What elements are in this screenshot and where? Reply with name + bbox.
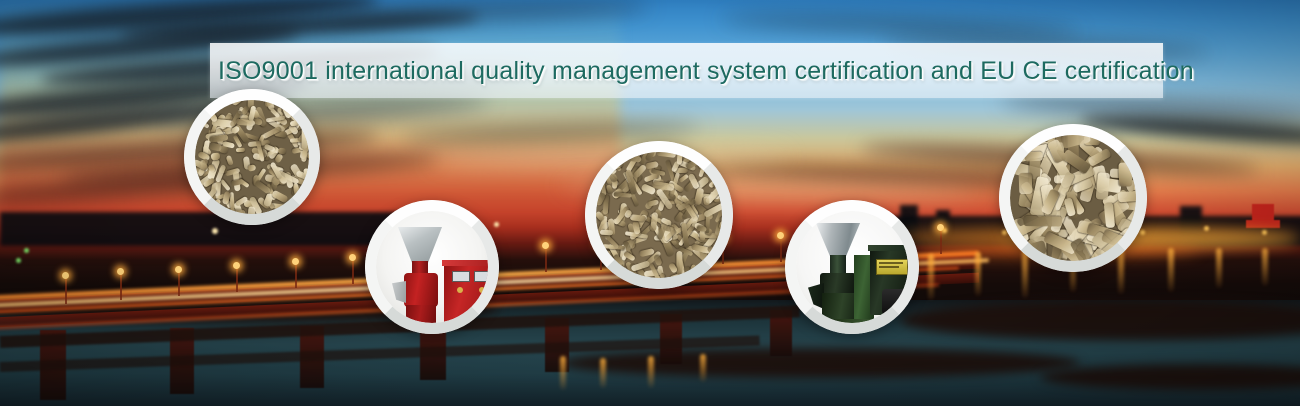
bridge-lamp xyxy=(62,272,69,279)
bridge-lamp xyxy=(349,254,356,261)
wood-pellet xyxy=(1133,135,1136,150)
circle-4-content xyxy=(796,211,908,323)
wood-pellet xyxy=(1024,216,1062,227)
wood-pellet xyxy=(703,196,710,206)
water-reflection xyxy=(1262,248,1268,286)
city-light xyxy=(24,248,29,253)
circle-5-content xyxy=(1010,135,1136,261)
wood-pellet xyxy=(195,104,205,114)
wood-pellet xyxy=(247,165,256,173)
wood-pellet xyxy=(269,210,289,214)
wood-pellets-texture xyxy=(195,100,309,214)
wood-pellet xyxy=(278,148,287,155)
water-reflection xyxy=(600,358,606,388)
wood-pellet xyxy=(220,179,231,191)
machine-motor xyxy=(882,289,908,315)
wood-pellet xyxy=(221,100,229,106)
wood-pellet xyxy=(1101,135,1124,143)
wood-pellet xyxy=(696,226,706,233)
bridge-lamp xyxy=(117,268,124,275)
circle-image-2[interactable] xyxy=(365,200,499,334)
cabinet-knob xyxy=(479,287,485,293)
lamp-post xyxy=(236,266,238,292)
machine-base xyxy=(406,305,436,323)
red-building-sign xyxy=(1246,220,1280,228)
machine-label-line xyxy=(879,262,903,264)
far-shoreline xyxy=(560,348,1080,378)
wood-pellet xyxy=(705,276,716,278)
wood-pellet xyxy=(248,206,256,214)
water-reflection xyxy=(700,354,706,382)
machine-press-head xyxy=(820,273,856,295)
water-reflection xyxy=(648,356,654,388)
wood-pellet xyxy=(1118,163,1132,188)
city-light xyxy=(942,228,947,233)
cabinet-top xyxy=(442,260,488,266)
wood-pellet xyxy=(226,155,234,166)
wood-pellet xyxy=(652,254,662,267)
circle-3-content xyxy=(596,152,722,278)
bridge-lamp xyxy=(175,266,182,273)
headline-text: ISO9001 international quality management… xyxy=(218,52,1163,90)
bridge-lamp xyxy=(292,258,299,265)
city-light xyxy=(1140,230,1145,235)
wood-pellet xyxy=(657,152,676,158)
lamp-post xyxy=(120,272,122,300)
water-reflection xyxy=(560,356,566,390)
wood-pellet xyxy=(303,183,309,190)
city-light xyxy=(1262,230,1267,235)
lamp-post xyxy=(545,246,547,272)
wood-pellet xyxy=(230,100,245,107)
wood-pellet xyxy=(301,127,307,149)
circle-2-content xyxy=(376,211,488,323)
city-light xyxy=(494,222,499,227)
lamp-post xyxy=(65,276,67,304)
cabinet-meter xyxy=(452,271,470,282)
wood-pellet xyxy=(1024,151,1042,161)
wood-pellet xyxy=(236,148,245,152)
wood-pellets-texture xyxy=(1010,135,1136,261)
lamp-post xyxy=(178,270,180,296)
lamp-post xyxy=(780,236,782,262)
wood-pellet xyxy=(676,251,682,275)
lamp-post xyxy=(352,258,354,284)
bridge-lamp xyxy=(777,232,784,239)
circle-image-1[interactable] xyxy=(184,89,320,225)
water-reflection xyxy=(1216,248,1222,288)
circle-image-5[interactable] xyxy=(999,124,1147,272)
promo-banner: ISO9001 international quality management… xyxy=(0,0,1300,406)
cabinet-knob xyxy=(457,287,463,293)
wood-pellet xyxy=(1118,189,1136,202)
city-light xyxy=(212,228,218,234)
water-reflection xyxy=(928,254,934,300)
wood-pellet xyxy=(629,214,645,222)
bridge-lamp xyxy=(542,242,549,249)
wood-pellet xyxy=(600,229,613,235)
wood-pellet xyxy=(271,190,288,203)
city-light xyxy=(1204,226,1209,231)
water-reflection xyxy=(975,252,981,296)
wood-pellet xyxy=(211,152,221,160)
machine-label-line xyxy=(879,266,899,268)
wood-pellets-texture xyxy=(596,152,722,278)
lamp-post xyxy=(295,262,297,288)
water-reflection xyxy=(1168,248,1174,292)
wood-pellet xyxy=(204,106,218,123)
city-skyline xyxy=(0,212,420,246)
machine-body xyxy=(404,273,438,307)
wood-pellet xyxy=(1018,173,1032,194)
cabinet-meter xyxy=(474,271,488,282)
circle-image-4[interactable] xyxy=(785,200,919,334)
circle-1-content xyxy=(195,100,309,214)
bridge-lamp xyxy=(233,262,240,269)
housing-top-rail xyxy=(868,245,908,251)
city-light xyxy=(16,258,21,263)
wood-pellet xyxy=(208,206,224,211)
circle-image-3[interactable] xyxy=(585,141,733,289)
